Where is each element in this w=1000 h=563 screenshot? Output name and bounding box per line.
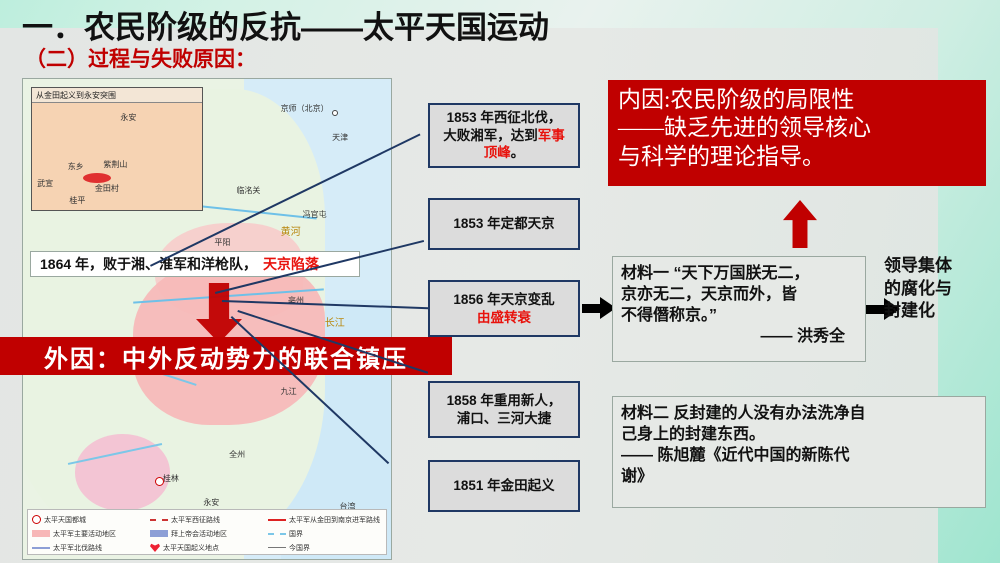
legend-label: 太平军北伐路线	[53, 543, 102, 553]
legend-item: 太平军西征路线	[150, 513, 264, 526]
timeline-box-1853-capital[interactable]: 1853 年定都天京	[428, 198, 580, 250]
material-one-attribution: —— 洪秀全	[621, 326, 857, 347]
timeline-box-line: 顶峰。	[484, 144, 525, 162]
legend-area-icon	[32, 530, 50, 537]
timeline-box-line: 1856 年天京变乱	[453, 291, 554, 309]
inset-label-zijingshan: 紫荆山	[103, 159, 127, 170]
legend-uprising-icon	[150, 543, 160, 552]
conclusion-line: 领导集体	[884, 255, 996, 278]
map-inset-title: 从金田起义到永安突围	[32, 88, 202, 103]
legend-item: 今国界	[268, 541, 382, 554]
timeline-box-line: 大败湘军，达到军事	[443, 127, 565, 145]
inner-cause-line: ——缺乏先进的领导核心	[618, 114, 976, 142]
legend-label: 太平天国都城	[44, 515, 86, 525]
right-arrow-icon-1	[582, 297, 616, 319]
map-label-quanzhou: 全州	[229, 449, 245, 460]
legend-item: 太平天国都城	[32, 513, 146, 526]
material-one-line: 京亦无二，天京而外，皆	[621, 284, 857, 305]
inset-label-dongxiang: 东乡	[68, 161, 84, 172]
conclusion-text: 领导集体 的腐化与 封建化	[884, 255, 996, 323]
legend-west-route-icon	[150, 519, 168, 521]
legend-god-society-icon	[150, 530, 168, 537]
legend-border-icon	[268, 533, 286, 535]
legend-label: 太平军从金田到南京进军路线	[289, 515, 380, 525]
legend-label: 太平天国起义地点	[163, 543, 219, 553]
inner-cause-box[interactable]: 内因:农民阶级的局限性 ——缺乏先进的领导核心 与科学的理论指导。	[608, 80, 986, 186]
timeline-box-text: 。	[511, 145, 525, 160]
legend-item: 太平军北伐路线	[32, 541, 146, 554]
legend-capital-icon	[32, 515, 41, 524]
section-subtitle: （二）过程与失败原因：	[25, 43, 256, 73]
map-inset: 从金田起义到永安突围 永安 东乡 紫荆山 金田村 桂平 武宣	[31, 87, 203, 211]
material-two-line: 己身上的封建东西。	[621, 424, 977, 445]
inset-label-wuxuan: 武宣	[37, 178, 53, 189]
legend-march-route-icon	[268, 519, 286, 521]
page-title: 一．农民阶级的反抗——太平天国运动	[22, 2, 549, 47]
legend-item: 国界	[268, 527, 382, 540]
timeline-box-line: 1858 年重用新人，	[447, 392, 562, 410]
map-caption-1864: 1864 年，败于湘、淮军和洋枪队， 天京陷落	[30, 251, 360, 277]
map-label-yangtze: 长江	[325, 314, 345, 329]
material-one-line: 材料一 “天下万国朕无二，	[621, 263, 857, 284]
legend-label: 拜上帝会活动地区	[171, 529, 227, 539]
timeline-box-highlight: 顶峰	[484, 145, 511, 160]
legend-label: 国界	[289, 529, 303, 539]
timeline-box-text: 大败湘军，达到	[443, 128, 538, 143]
map-caption-text: 1864 年，败于湘、淮军和洋枪队，	[40, 254, 257, 274]
timeline-box-1851-uprising[interactable]: 1851 年金田起义	[428, 460, 580, 512]
legend-item: 太平军从金田到南京进军路线	[268, 513, 382, 526]
map-label-jiujiang: 九江	[281, 386, 297, 397]
timeline-box-line: 浦口、三河大捷	[457, 410, 552, 428]
legend-label: 太平军西征路线	[171, 515, 220, 525]
map-label-tianjin: 天津	[332, 132, 348, 143]
map-label-linmingguan: 临洺关	[236, 185, 260, 196]
map-caption-highlight: 天京陷落	[263, 254, 319, 274]
inset-uprising-marker	[83, 173, 111, 183]
inset-label-guiping: 桂平	[69, 195, 85, 206]
map-label-beijing: 京师（北京）	[281, 103, 329, 114]
timeline-box-highlight: 由盛转衰	[477, 309, 531, 327]
timeline-box-1853-expedition[interactable]: 1853 年西征北伐， 大败湘军，达到军事 顶峰。	[428, 103, 580, 168]
legend-item: 太平天国起义地点	[150, 541, 264, 554]
material-two-line: 材料二 反封建的人没有办法洗净自	[621, 403, 977, 424]
legend-north-route-icon	[32, 547, 50, 549]
conclusion-line: 封建化	[884, 300, 996, 323]
timeline-box-1858-victories[interactable]: 1858 年重用新人， 浦口、三河大捷	[428, 381, 580, 438]
material-one-line: 不得僭称京。”	[621, 305, 857, 326]
map-label-pingyang: 平阳	[214, 237, 230, 248]
timeline-box-line: 1853 年西征北伐，	[447, 109, 562, 127]
legend-item: 太平军主要活动地区	[32, 527, 146, 540]
material-one-box[interactable]: 材料一 “天下万国朕无二， 京亦无二，天京而外，皆 不得僭称京。” —— 洪秀全	[612, 256, 866, 362]
conclusion-line: 的腐化与	[884, 278, 996, 301]
map-label-yongan: 永安	[203, 497, 219, 508]
timeline-box-1856-turmoil[interactable]: 1856 年天京变乱 由盛转衰	[428, 280, 580, 337]
inner-cause-line: 内因:农民阶级的局限性	[618, 86, 976, 114]
slide-canvas: 一．农民阶级的反抗——太平天国运动 （二）过程与失败原因： 京师（北京） 天津 …	[0, 0, 1000, 563]
map-label-guilin: 桂林	[163, 473, 179, 484]
inner-cause-line: 与科学的理论指导。	[618, 143, 976, 171]
timeline-box-highlight: 军事	[538, 128, 565, 143]
material-two-box[interactable]: 材料二 反封建的人没有办法洗净自 己身上的封建东西。 —— 陈旭麓《近代中国的新…	[612, 396, 986, 508]
external-cause-banner: 外因：中外反动势力的联合镇压	[0, 337, 452, 375]
inset-label-jintiancun: 金田村	[95, 183, 119, 194]
material-two-line: 谢》	[621, 466, 977, 487]
map-label-yellow-river: 黄河	[281, 223, 301, 238]
legend-item: 拜上帝会活动地区	[150, 527, 264, 540]
map-legend: 太平天国都城 太平军西征路线 太平军从金田到南京进军路线 太平军主要活动地区 拜…	[27, 509, 387, 555]
inset-label-yongan: 永安	[120, 112, 136, 123]
map-label-fengguantun: 冯官屯	[303, 209, 327, 220]
material-two-line: —— 陈旭麓《近代中国的新陈代	[621, 445, 977, 466]
legend-modern-border-icon	[268, 547, 286, 548]
legend-label: 今国界	[289, 543, 310, 553]
legend-label: 太平军主要活动地区	[53, 529, 116, 539]
